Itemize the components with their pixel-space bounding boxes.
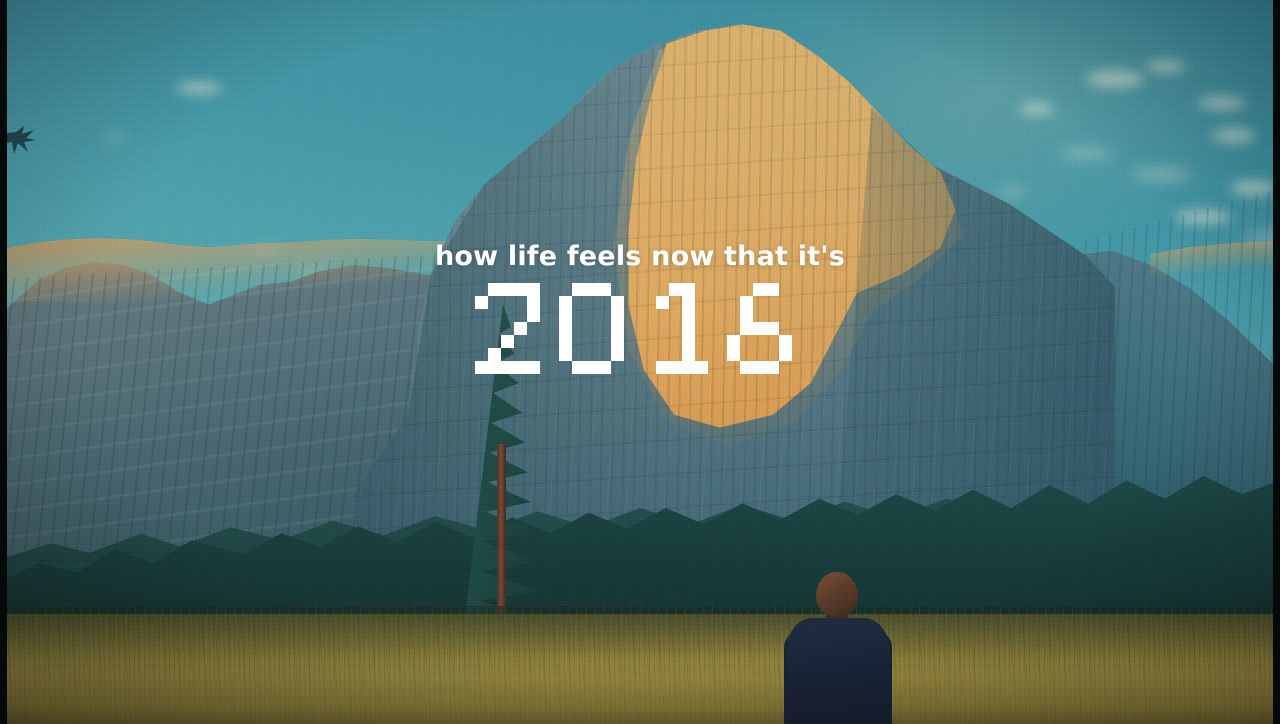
cloud-1 bbox=[106, 134, 124, 141]
cloud-2 bbox=[1086, 70, 1144, 88]
person-silhouette bbox=[786, 572, 890, 724]
letterbox-bar-left bbox=[0, 0, 7, 724]
cloud-0 bbox=[176, 82, 222, 94]
cloud-7 bbox=[1212, 128, 1256, 143]
person-jacket bbox=[786, 618, 890, 724]
cloud-5 bbox=[1198, 96, 1246, 110]
meadow-shadow bbox=[0, 606, 1280, 724]
person-head bbox=[816, 572, 858, 616]
video-frame: how life feels now that it's bbox=[0, 0, 1280, 724]
cloud-6 bbox=[1060, 148, 1112, 159]
cloud-3 bbox=[1020, 103, 1054, 115]
cloud-4 bbox=[1146, 60, 1186, 73]
foreground-branch-icon bbox=[0, 118, 60, 162]
cloud-10 bbox=[996, 188, 1026, 197]
letterbox-bar-right bbox=[1273, 0, 1280, 724]
cloud-8 bbox=[1132, 168, 1192, 181]
